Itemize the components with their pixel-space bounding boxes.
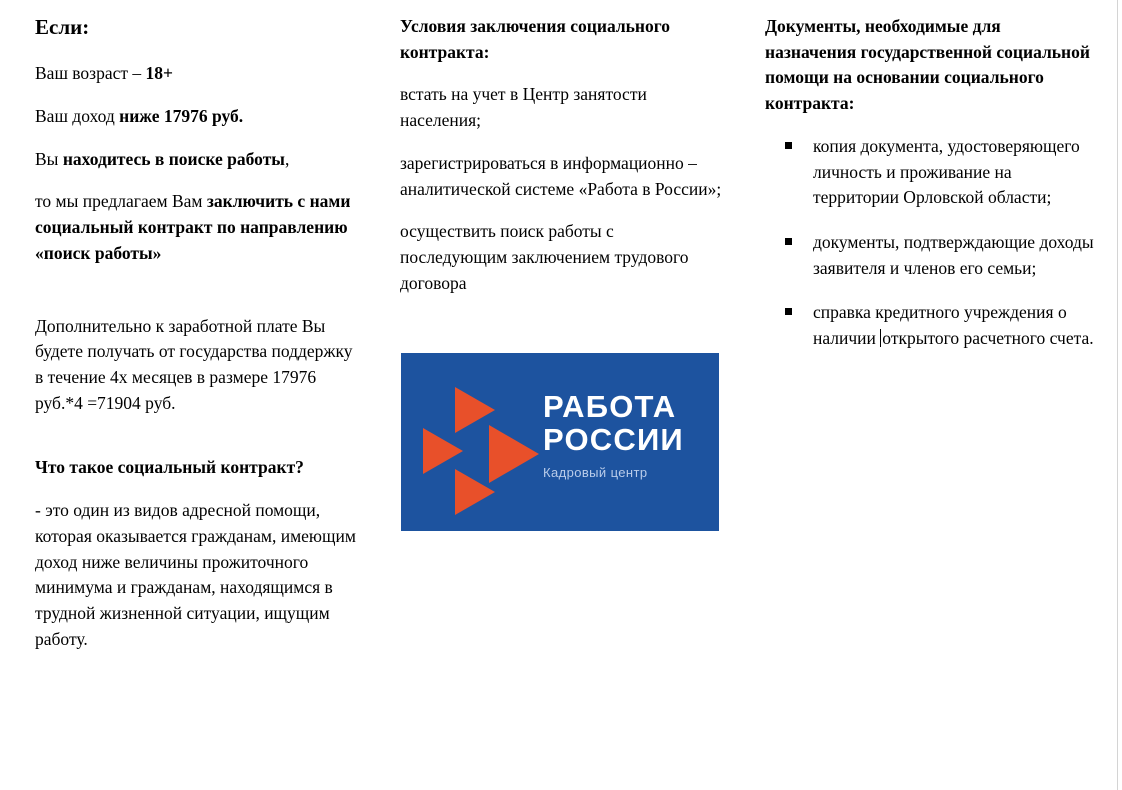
condition-jobsearch-prefix: Вы [35, 149, 63, 169]
offer-statement: то мы предлагаем Вам заключить с нами со… [35, 189, 365, 266]
column-middle: Условия заключения социального контракта… [400, 14, 725, 313]
document-list-item-identity: копия документа, удостоверяющего личност… [765, 134, 1095, 211]
condition-item-job-search: осуществить поиск работы с последующим з… [400, 219, 725, 296]
documents-heading: Документы, необходимые для назначения го… [765, 14, 1095, 117]
condition-jobsearch-suffix: , [285, 149, 289, 169]
condition-age-prefix: Ваш возраст – [35, 63, 146, 83]
square-bullet-icon [785, 238, 792, 245]
offer-statement-prefix: то мы предлагаем Вам [35, 191, 207, 211]
document-item-text-after-caret: открытого расчетного счета. [882, 328, 1093, 348]
column-left: Если: Ваш возраст – 18+ Ваш доход ниже 1… [35, 14, 365, 670]
spacer-after-offer [35, 284, 365, 314]
triangle-middle-left-icon [423, 428, 463, 474]
documents-list: копия документа, удостоверяющего личност… [765, 134, 1095, 352]
condition-income-prefix: Ваш доход [35, 106, 119, 126]
logo-subtitle: Кадровый центр [543, 465, 719, 480]
condition-age: Ваш возраст – 18+ [35, 61, 365, 87]
pinwheel-triangles-icon [423, 385, 533, 495]
support-paragraph: Дополнительно к заработной плате Вы буде… [35, 314, 365, 417]
rabota-rossii-logo-banner: РАБОТА РОССИИ Кадровый центр [401, 353, 719, 531]
logo-inner: РАБОТА РОССИИ Кадровый центр [401, 353, 719, 531]
condition-age-value: 18+ [146, 63, 173, 83]
pane-right-edge-rule [1117, 0, 1118, 790]
document-list-item-bank-account[interactable]: справка кредитного учреждения о наличии … [765, 300, 1095, 351]
condition-jobsearch: Вы находитесь в поиске работы, [35, 147, 365, 173]
condition-item-register-system: зарегистрироваться в информационно – ана… [400, 151, 725, 202]
definition-heading: Что такое социальный контракт? [35, 455, 365, 481]
square-bullet-icon [785, 308, 792, 315]
document-item-text: копия документа, удостоверяющего личност… [813, 136, 1080, 207]
logo-word-rossii: РОССИИ [543, 424, 719, 457]
document-list-item-income: документы, подтверждающие доходы заявите… [765, 230, 1095, 281]
left-column-title: Если: [35, 14, 365, 41]
square-bullet-icon [785, 142, 792, 149]
condition-jobsearch-value: находитесь в поиске работы [63, 149, 285, 169]
definition-text: - это один из видов адресной помощи, кот… [35, 498, 365, 652]
condition-income-value: ниже 17976 руб. [119, 106, 243, 126]
logo-word-rabota: РАБОТА [543, 391, 719, 424]
triangle-right-large-icon [489, 425, 539, 483]
column-right: Документы, необходимые для назначения го… [765, 14, 1095, 371]
spacer-before-definition [35, 433, 365, 455]
conditions-heading: Условия заключения социального контракта… [400, 14, 725, 65]
condition-income: Ваш доход ниже 17976 руб. [35, 104, 365, 130]
condition-item-register-employment-center: встать на учет в Центр занятости населен… [400, 82, 725, 133]
document-item-text: документы, подтверждающие доходы заявите… [813, 232, 1094, 278]
document-page: Если: Ваш возраст – 18+ Ваш доход ниже 1… [0, 0, 1122, 790]
logo-wordmark: РАБОТА РОССИИ Кадровый центр [543, 391, 719, 480]
